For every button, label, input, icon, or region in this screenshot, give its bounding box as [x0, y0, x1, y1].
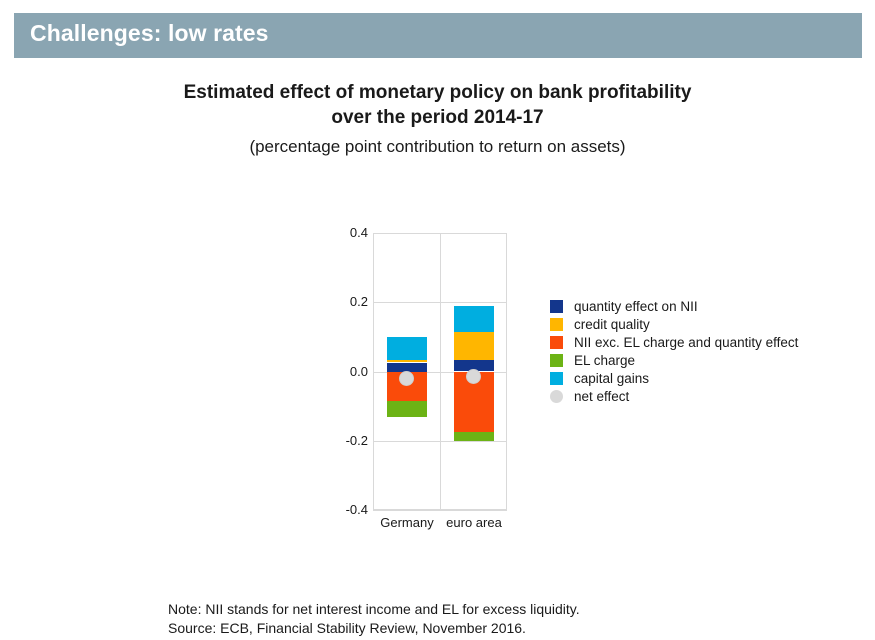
legend-swatch-icon [550, 336, 563, 349]
legend-swatch-icon [550, 354, 563, 367]
legend-label: quantity effect on NII [574, 299, 698, 314]
chart-title-line-2: over the period 2014-17 [0, 105, 875, 130]
legend-item[interactable]: NII exc. EL charge and quantity effect [550, 334, 798, 351]
y-tick-label: 0.0 [350, 364, 368, 379]
legend-item[interactable]: quantity effect on NII [550, 298, 798, 315]
net-effect-marker[interactable] [399, 371, 414, 386]
bar-segment-capital-gains[interactable] [454, 306, 494, 332]
gridline-y [373, 510, 507, 511]
footnote-note: Note: NII stands for net interest income… [168, 600, 580, 619]
legend-item[interactable]: EL charge [550, 352, 798, 369]
y-tick-label: -0.2 [346, 433, 368, 448]
legend-label: capital gains [574, 371, 649, 386]
legend-swatch-icon [550, 390, 563, 403]
legend-item[interactable]: capital gains [550, 370, 798, 387]
chart-legend: quantity effect on NIIcredit qualityNII … [550, 298, 798, 406]
footnotes: Note: NII stands for net interest income… [168, 600, 580, 638]
chart-subtitle: (percentage point contribution to return… [0, 134, 875, 159]
slide-title: Challenges: low rates [30, 20, 269, 47]
legend-label: credit quality [574, 317, 650, 332]
chart-title-block: Estimated effect of monetary policy on b… [0, 80, 875, 159]
bar-segment-el-charge[interactable] [454, 432, 494, 441]
x-tick-label-euro-area: euro area [424, 515, 524, 530]
footnote-source: Source: ECB, Financial Stability Review,… [168, 619, 580, 638]
bar-segment-credit-quality[interactable] [454, 332, 494, 360]
legend-label: NII exc. EL charge and quantity effect [574, 335, 798, 350]
legend-item[interactable]: credit quality [550, 316, 798, 333]
slide-header-banner: Challenges: low rates [14, 13, 862, 58]
bar-segment-capital-gains[interactable] [387, 337, 427, 360]
legend-swatch-icon [550, 318, 563, 331]
legend-item[interactable]: net effect [550, 388, 798, 405]
legend-label: net effect [574, 389, 629, 404]
chart-title-line-1: Estimated effect of monetary policy on b… [0, 80, 875, 105]
legend-label: EL charge [574, 353, 635, 368]
y-tick-label: 0.2 [350, 294, 368, 309]
legend-swatch-icon [550, 372, 563, 385]
bar-segment-el-charge[interactable] [387, 401, 427, 417]
net-effect-marker[interactable] [466, 369, 481, 384]
panel-divider [440, 233, 441, 510]
y-tick-label: 0.4 [350, 225, 368, 240]
legend-swatch-icon [550, 300, 563, 313]
